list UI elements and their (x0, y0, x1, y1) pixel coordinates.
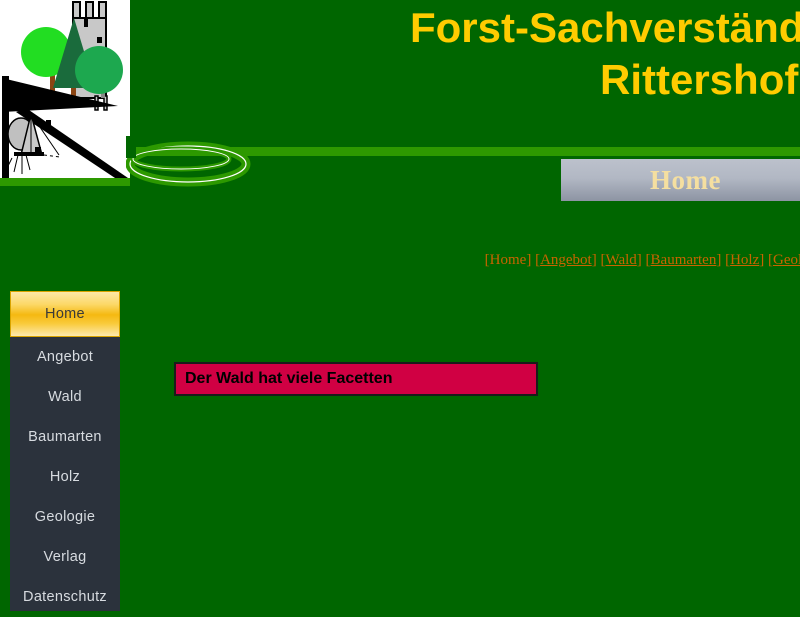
breadcrumb-items: [Home] [Angebot] [Wald] [Baumarten] [Hol… (485, 252, 800, 269)
site-title: Forst-Sachverständigenbüro Rittershofer (260, 2, 800, 106)
breadcrumb-bracket: ] (526, 252, 535, 268)
site-logo[interactable] (0, 0, 130, 180)
sidebar-item-baumarten[interactable]: Baumarten (10, 417, 120, 457)
breadcrumb-item-baumarten[interactable]: Baumarten (651, 252, 717, 268)
sidebar-nav: HomeAngebotWaldBaumartenHolzGeologieVerl… (10, 291, 120, 611)
sidebar-item-home[interactable]: Home (10, 291, 120, 337)
breadcrumb-item-home: Home (490, 252, 527, 268)
breadcrumb-item-angebot[interactable]: Angebot (540, 252, 592, 268)
sidebar-item-datenschutz[interactable]: Datenschutz (10, 577, 120, 617)
breadcrumb-item-wald[interactable]: Wald (605, 252, 636, 268)
breadcrumb-item-geologie[interactable]: Geologie (773, 252, 800, 268)
sidebar-item-geologie[interactable]: Geologie (10, 497, 120, 537)
content-heading-text: Der Wald hat viele Facetten (176, 370, 392, 388)
breadcrumb-bracket: ] (716, 252, 725, 268)
content-heading-box: Der Wald hat viele Facetten (174, 362, 538, 396)
breadcrumb-item-holz[interactable]: Holz (730, 252, 759, 268)
sidebar-item-wald[interactable]: Wald (10, 377, 120, 417)
site-header: Forst-Sachverständigenbüro Rittershofer … (0, 0, 800, 190)
green-stripe-left (0, 178, 130, 186)
sidebar-item-holz[interactable]: Holz (10, 457, 120, 497)
breadcrumb-bracket: ] (759, 252, 768, 268)
sidebar-item-verlag[interactable]: Verlag (10, 537, 120, 577)
sidebar-item-angebot[interactable]: Angebot (10, 337, 120, 377)
forest-castle-logo-icon (0, 0, 130, 180)
breadcrumb-bracket: ] (637, 252, 646, 268)
page-title-banner-label: Home (650, 165, 721, 196)
breadcrumb: [Home] [Angebot] [Wald] [Baumarten] [Hol… (0, 252, 800, 269)
page-title-banner: Home (558, 156, 800, 204)
site-title-line-1: Forst-Sachverständigenbüro (260, 2, 800, 54)
green-swirl-icon (126, 136, 251, 191)
site-title-line-2: Rittershofer (260, 54, 800, 106)
